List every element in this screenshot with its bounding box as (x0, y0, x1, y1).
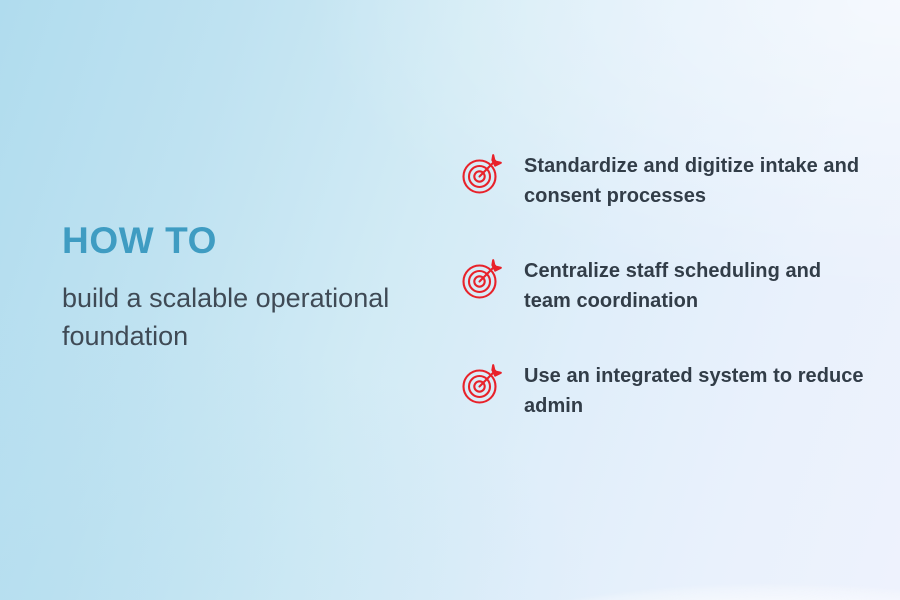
list-item: Use an integrated system to reduce admin (460, 360, 872, 422)
bullet-list: Standardize and digitize intake and cons… (460, 150, 872, 421)
slide-canvas: HOW TO build a scalable operational foun… (0, 0, 900, 600)
bottom-arc-decoration (455, 585, 900, 600)
list-item-label: Standardize and digitize intake and cons… (524, 150, 872, 212)
target-arrow-icon (460, 152, 504, 196)
target-arrow-icon (460, 362, 504, 406)
list-item: Centralize staff scheduling and team coo… (460, 255, 872, 317)
list-item-label: Centralize staff scheduling and team coo… (524, 255, 872, 317)
eyebrow-text: HOW TO (62, 222, 412, 259)
headline-block: HOW TO build a scalable operational foun… (62, 222, 412, 356)
list-item: Standardize and digitize intake and cons… (460, 150, 872, 212)
list-item-label: Use an integrated system to reduce admin (524, 360, 872, 422)
target-arrow-icon (460, 257, 504, 301)
subhead-text: build a scalable operational foundation (62, 279, 392, 356)
